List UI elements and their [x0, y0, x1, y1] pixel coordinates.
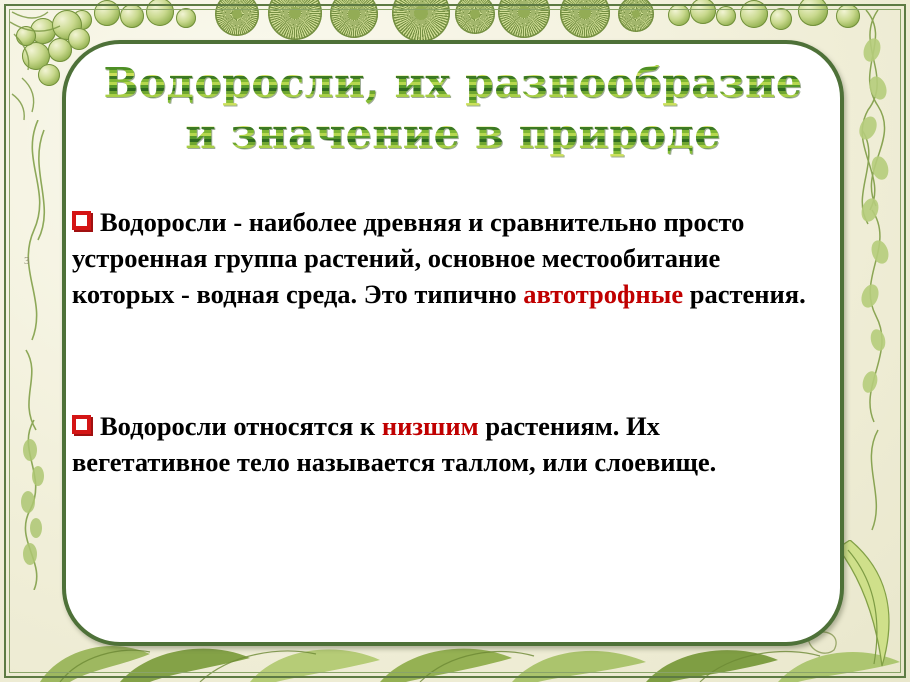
bullet-paragraph-2: Водоросли относятся к низшим растениям. …	[72, 408, 822, 480]
square-bullet-icon	[72, 415, 91, 434]
bullet-paragraph-1: Водоросли - наиболее древняя и сравнител…	[72, 204, 822, 312]
title-line-2: и значение в природе	[66, 109, 840, 160]
plate-number: 3	[24, 255, 30, 267]
body-content: Водоросли - наиболее древняя и сравнител…	[66, 204, 840, 480]
slide-title: Водоросли, их разнообразие и значение в …	[66, 58, 840, 160]
paragraph-1-text-b: растения.	[683, 279, 806, 309]
title-line-1: Водоросли, их разнообразие	[66, 58, 840, 109]
paragraph-1-highlight: автотрофные	[523, 279, 683, 309]
content-panel: Водоросли, их разнообразие и значение в …	[62, 40, 844, 646]
paragraph-2-text-a: Водоросли относятся к	[100, 411, 382, 441]
square-bullet-icon	[72, 211, 91, 230]
paragraph-2-highlight: низшим	[382, 411, 479, 441]
slide-canvas: 3 Водоросли, их разнообразие и значение …	[0, 0, 910, 682]
